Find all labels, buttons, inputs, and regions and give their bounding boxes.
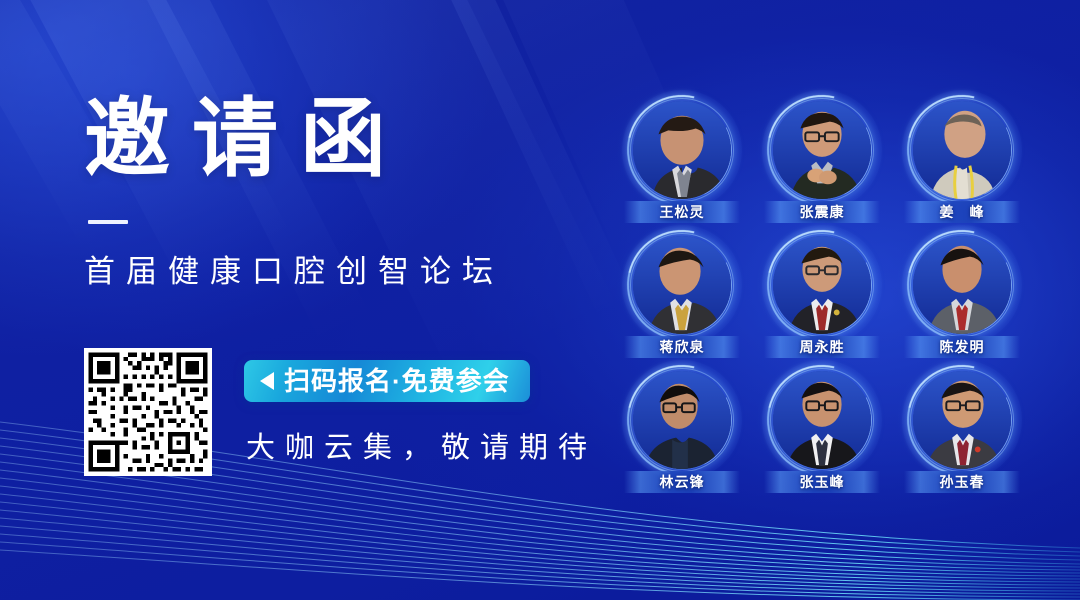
- speaker-card[interactable]: 周永胜: [763, 233, 881, 358]
- speaker-nameplate: 林云锋: [624, 471, 740, 493]
- speaker-nameplate: 孙玉春: [904, 471, 1020, 493]
- qr-code-icon: [84, 348, 212, 476]
- speaker-card[interactable]: 张震康: [763, 98, 881, 223]
- speaker-nameplate: 周永胜: [764, 336, 880, 358]
- speaker-name: 周永胜: [800, 337, 845, 357]
- avatar: [633, 371, 731, 469]
- speaker-nameplate: 陈发明: [904, 336, 1020, 358]
- headline-block: 邀请函 首届健康口腔创智论坛: [84, 96, 604, 291]
- cta-label: 扫码报名·免费参会: [284, 368, 510, 394]
- invitation-poster: 邀请函 首届健康口腔创智论坛: [0, 0, 1080, 600]
- speaker-name: 姜 峰: [940, 202, 985, 222]
- registration-block: 扫码报名·免费参会 大咖云集，敬请期待: [84, 348, 597, 476]
- speaker-grid: 王松灵 张震康 姜 峰: [612, 98, 1032, 503]
- avatar: [773, 236, 871, 334]
- speaker-name: 蒋欣泉: [660, 337, 705, 357]
- title-divider: [88, 220, 128, 224]
- speaker-card[interactable]: 陈发明: [903, 233, 1021, 358]
- avatar: [913, 101, 1011, 199]
- avatar: [633, 236, 731, 334]
- speaker-name: 王松灵: [660, 202, 705, 222]
- avatar: [913, 236, 1011, 334]
- speaker-nameplate: 蒋欣泉: [624, 336, 740, 358]
- speaker-name: 陈发明: [940, 337, 985, 357]
- avatar: [633, 101, 731, 199]
- speaker-card[interactable]: 蒋欣泉: [623, 233, 741, 358]
- speaker-card[interactable]: 王松灵: [623, 98, 741, 223]
- speaker-name: 张玉峰: [800, 472, 845, 492]
- page-title: 邀请函: [84, 96, 604, 182]
- triangle-left-icon: [260, 372, 274, 390]
- speaker-name: 张震康: [800, 202, 845, 222]
- cta-block: 扫码报名·免费参会 大咖云集，敬请期待: [244, 348, 597, 466]
- avatar: [773, 101, 871, 199]
- speaker-nameplate: 张震康: [764, 201, 880, 223]
- avatar: [913, 371, 1011, 469]
- speaker-nameplate: 张玉峰: [764, 471, 880, 493]
- speaker-name: 林云锋: [660, 472, 705, 492]
- speaker-card[interactable]: 林云锋: [623, 368, 741, 493]
- tagline-text: 大咖云集，敬请期待: [246, 424, 597, 466]
- event-subtitle: 首届健康口腔创智论坛: [84, 246, 604, 291]
- speaker-card[interactable]: 张玉峰: [763, 368, 881, 493]
- speaker-nameplate: 王松灵: [624, 201, 740, 223]
- qr-code[interactable]: [84, 348, 212, 476]
- speaker-card[interactable]: 姜 峰: [903, 98, 1021, 223]
- speaker-name: 孙玉春: [940, 472, 985, 492]
- avatar: [773, 371, 871, 469]
- speaker-card[interactable]: 孙玉春: [903, 368, 1021, 493]
- speaker-nameplate: 姜 峰: [904, 201, 1020, 223]
- scan-to-register-button[interactable]: 扫码报名·免费参会: [244, 360, 530, 402]
